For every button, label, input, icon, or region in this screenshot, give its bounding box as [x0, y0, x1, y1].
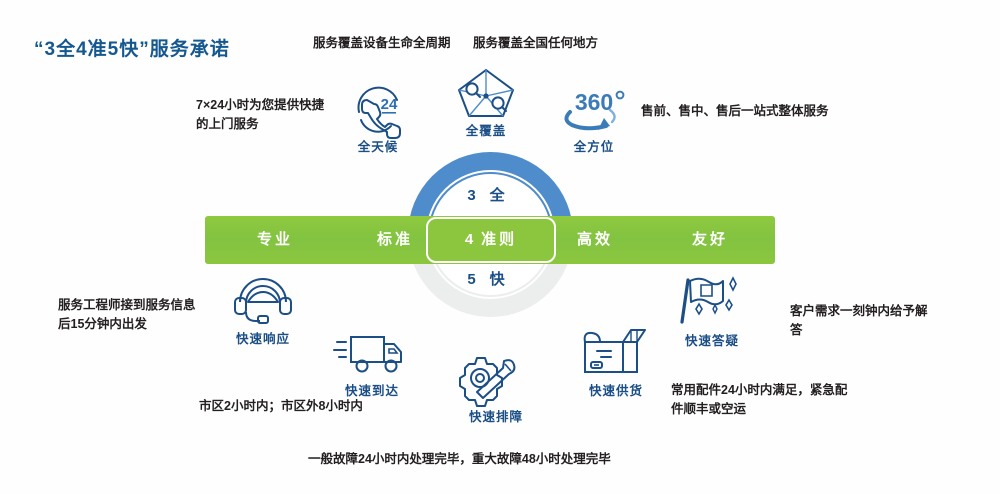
caption-all-weather: 全天候: [347, 136, 409, 155]
note-spare-parts: 常用配件24小时内满足，紧急配 件顺丰或空运: [671, 381, 851, 419]
headset-icon: [226, 272, 300, 326]
360-arrow-icon: 360: [556, 86, 632, 134]
open-box-icon: [575, 326, 657, 378]
note-lifecycle-coverage: 服务覆盖设备生命全周期: [313, 34, 451, 53]
ring-label-top: 3全: [408, 184, 573, 205]
note-24h-onsite: 7×24小时为您提供快捷 的上门服务: [196, 96, 356, 134]
flag-icon: [671, 272, 753, 328]
icon-block-fast-response: 快速响应: [226, 272, 300, 347]
ring-label-center: 4准则: [426, 217, 556, 263]
icon-block-all-weather: 24 全天候: [347, 86, 409, 155]
ring-label-bottom: 5快: [408, 268, 573, 289]
icon-block-fast-answer: 快速答疑: [671, 272, 753, 349]
truck-icon: [331, 330, 413, 378]
note-arrival-time: 市区2小时内；市区外8小时内: [199, 397, 363, 416]
caption-fast-supply: 快速供货: [575, 380, 657, 399]
icon-block-all-directions: 360 全方位: [556, 86, 632, 155]
caption-full-coverage: 全覆盖: [455, 120, 517, 139]
pentagon-network-icon: [455, 66, 517, 118]
caption-fast-troubleshoot: 快速排障: [455, 406, 537, 425]
bar-cell-professional: 专业: [205, 216, 345, 264]
note-quarter-hour-answer: 客户需求一刻钟内给予解 答: [790, 302, 940, 340]
icon-block-fast-supply: 快速供货: [575, 326, 657, 399]
svg-text:360: 360: [575, 89, 613, 115]
gear-screwdriver-icon: [455, 352, 537, 404]
note-fault-handling: 一般故障24小时内处理完毕，重大故障48小时处理完毕: [308, 450, 611, 469]
note-nationwide-coverage: 服务覆盖全国任何地方: [473, 34, 598, 53]
icon-block-fast-arrival: 快速到达: [331, 330, 413, 399]
icon-block-full-coverage: 全覆盖: [455, 66, 517, 139]
note-presale-aftersale: 售前、售中、售后一站式整体服务: [641, 102, 829, 121]
infographic-canvas: “3全4准5快”服务承诺 服务覆盖设备生命全周期 服务覆盖全国任何地方 7×24…: [0, 0, 1000, 494]
svg-text:24: 24: [381, 96, 398, 113]
phone-24h-icon: 24: [347, 86, 409, 134]
caption-fast-answer: 快速答疑: [671, 330, 753, 349]
bar-cell-friendly: 友好: [645, 216, 775, 264]
note-engineer-dispatch: 服务工程师接到服务信息 后15分钟内出发: [58, 296, 223, 334]
page-title: “3全4准5快”服务承诺: [34, 34, 230, 61]
caption-fast-response: 快速响应: [226, 328, 300, 347]
icon-block-fast-troubleshoot: 快速排障: [455, 352, 537, 425]
